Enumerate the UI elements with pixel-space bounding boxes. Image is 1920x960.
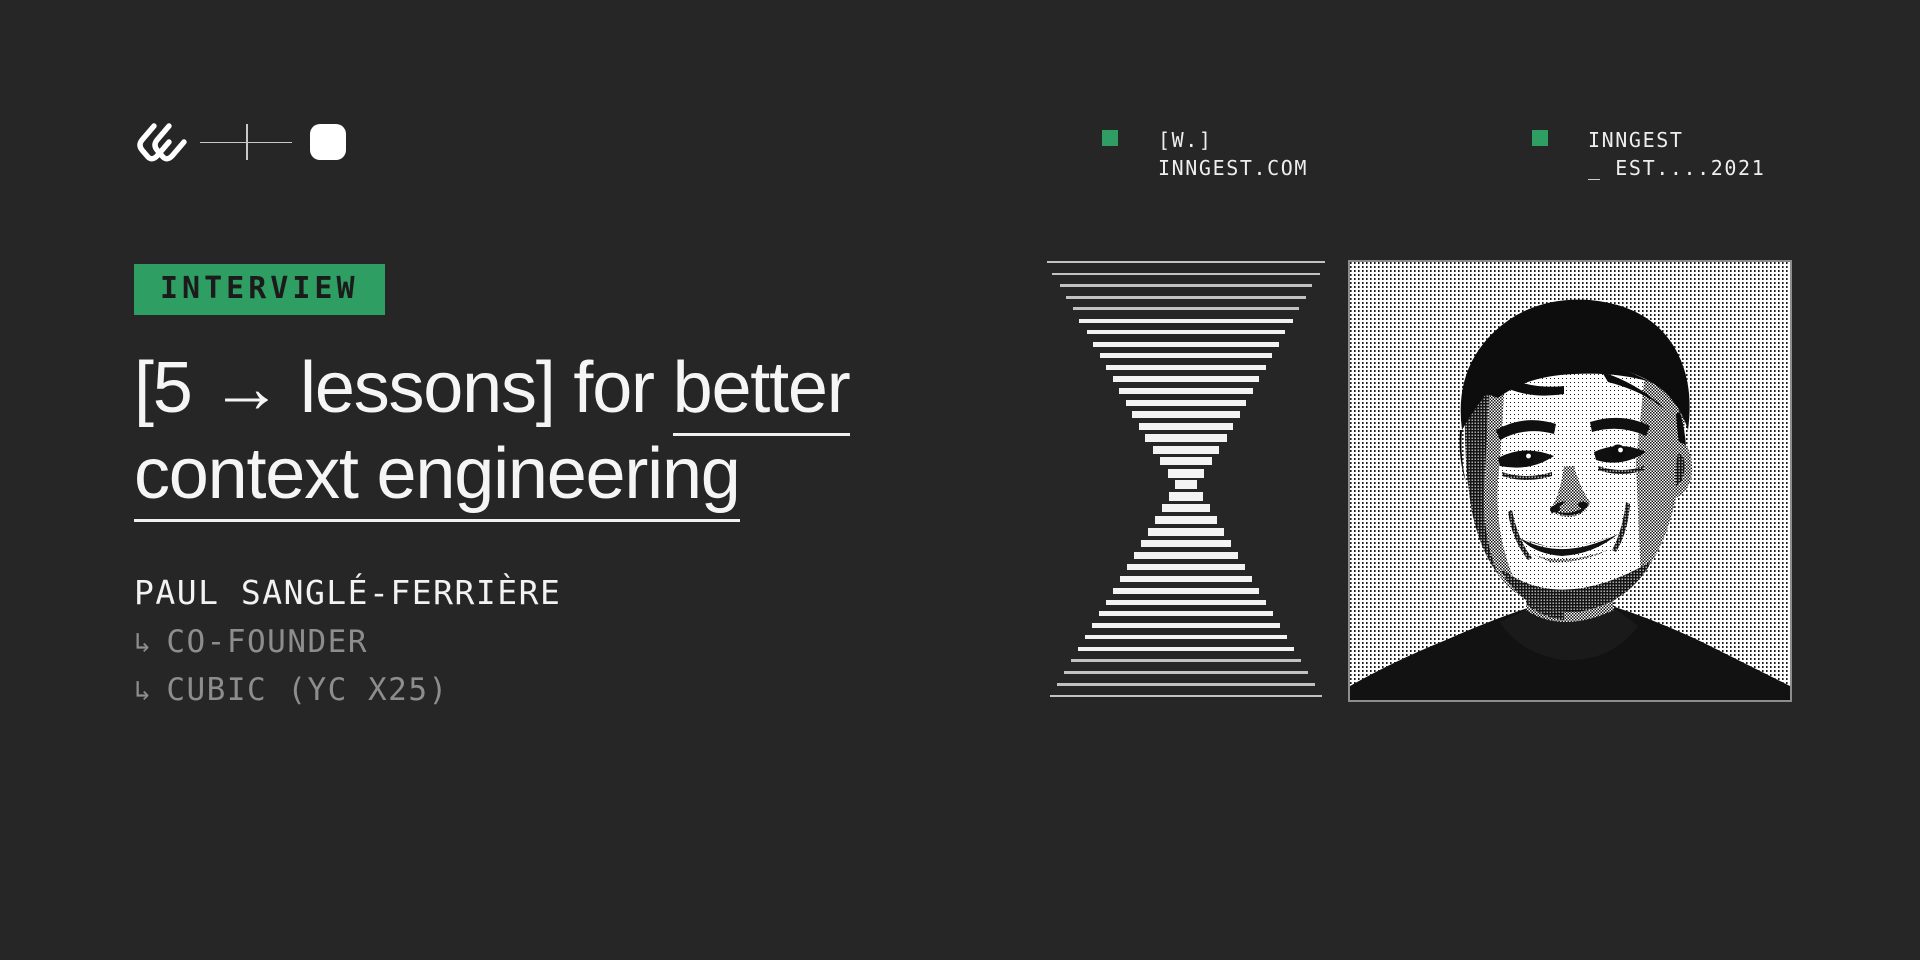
hourglass-stripe: [1113, 376, 1259, 382]
hourglass-stripe: [1052, 273, 1320, 275]
hourglass-stripe: [1078, 647, 1294, 651]
hourglass-stripe: [1100, 353, 1272, 358]
meta-established-line1: INNGEST: [1588, 128, 1684, 152]
hourglass-stripe: [1106, 600, 1266, 605]
speaker-detail-company: ↳ CUBIC (YC X25): [134, 672, 964, 708]
meta-website-line2: INNGEST.COM: [1158, 156, 1308, 180]
meta-established-line2: _ EST....2021: [1588, 156, 1765, 180]
hourglass-stripe: [1145, 434, 1227, 442]
hourglass-stripe: [1071, 659, 1301, 662]
status-badge-interview: INTERVIEW: [134, 264, 385, 315]
hourglass-stripe: [1175, 480, 1197, 489]
hourglass-stripe: [1087, 330, 1285, 334]
green-square-marker-icon: [1532, 130, 1548, 146]
hourglass-stripe: [1047, 261, 1325, 263]
hourglass-stripe: [1168, 469, 1204, 478]
hourglass-stripe: [1139, 423, 1233, 430]
hourglass-stripe: [1060, 284, 1312, 287]
speaker-role-label: CO-FOUNDER: [166, 624, 368, 660]
hourglass-stripe: [1162, 504, 1210, 512]
hourglass-stripe: [1085, 635, 1287, 639]
hourglass-stripe: [1134, 552, 1238, 559]
speaker-detail-role: ↳ CO-FOUNDER: [134, 624, 964, 660]
hourglass-stripe: [1141, 540, 1231, 547]
meta-website[interactable]: [W.] INNGEST.COM: [1102, 126, 1308, 182]
arrow-branch-icon: ↳: [134, 626, 152, 659]
brand-lockup[interactable]: [134, 120, 346, 164]
green-square-marker-icon: [1102, 130, 1118, 146]
hourglass-stripe: [1155, 516, 1217, 524]
meta-established: INNGEST _ EST....2021: [1532, 126, 1765, 182]
hourglass-stripe: [1113, 588, 1259, 594]
headline-line1-plain: [5 → lessons] for: [134, 348, 673, 428]
page-title: [5 → lessons] for better context enginee…: [134, 345, 964, 517]
hourglass-stripe: [1106, 365, 1266, 370]
hourglass-stripe: [1093, 342, 1279, 347]
speaker-company-label: CUBIC (YC X25): [166, 672, 448, 708]
plus-rule-icon: [192, 120, 300, 164]
hourglass-stripe: [1057, 683, 1315, 686]
rounded-square-chip-icon: [310, 124, 346, 160]
hourglass-stripe: [1099, 611, 1273, 616]
hourglass-stripe: [1126, 400, 1246, 406]
hourglass-stripe: [1127, 564, 1245, 570]
speaker-portrait-halftone: [1348, 260, 1792, 702]
hourglass-stripe: [1079, 319, 1293, 323]
social-card-canvas: [W.] INNGEST.COM INNGEST _ EST....2021 I…: [0, 0, 1920, 960]
hourglass-stripes-graphic: [1046, 256, 1326, 702]
hourglass-stripe: [1073, 307, 1299, 310]
card-header: [W.] INNGEST.COM INNGEST _ EST....2021: [0, 0, 1920, 240]
card-body: INTERVIEW [5 → lessons] for better conte…: [134, 264, 964, 708]
hourglass-stripe: [1064, 671, 1308, 674]
inngest-infinity-logo-icon: [134, 120, 192, 164]
hourglass-stripe: [1120, 576, 1252, 582]
portrait-artwork: [1350, 262, 1790, 700]
headline-line1-underlined: better: [673, 348, 850, 436]
hourglass-stripe: [1153, 446, 1219, 454]
headline-line2-underlined: context engineering: [134, 434, 740, 522]
meta-website-line1: [W.]: [1158, 128, 1213, 152]
hourglass-stripe: [1132, 411, 1240, 418]
hourglass-stripe: [1119, 388, 1253, 394]
arrow-branch-icon: ↳: [134, 674, 152, 707]
hourglass-stripe: [1169, 492, 1203, 501]
speaker-credits: PAUL SANGLÉ-FERRIÈRE ↳ CO-FOUNDER ↳ CUBI…: [134, 573, 964, 708]
speaker-name: PAUL SANGLÉ-FERRIÈRE: [134, 573, 964, 612]
hourglass-stripe: [1160, 457, 1212, 465]
hourglass-stripe: [1066, 296, 1306, 299]
hourglass-stripe: [1148, 528, 1224, 536]
hourglass-stripe: [1092, 623, 1280, 628]
hourglass-stripe: [1050, 695, 1322, 697]
